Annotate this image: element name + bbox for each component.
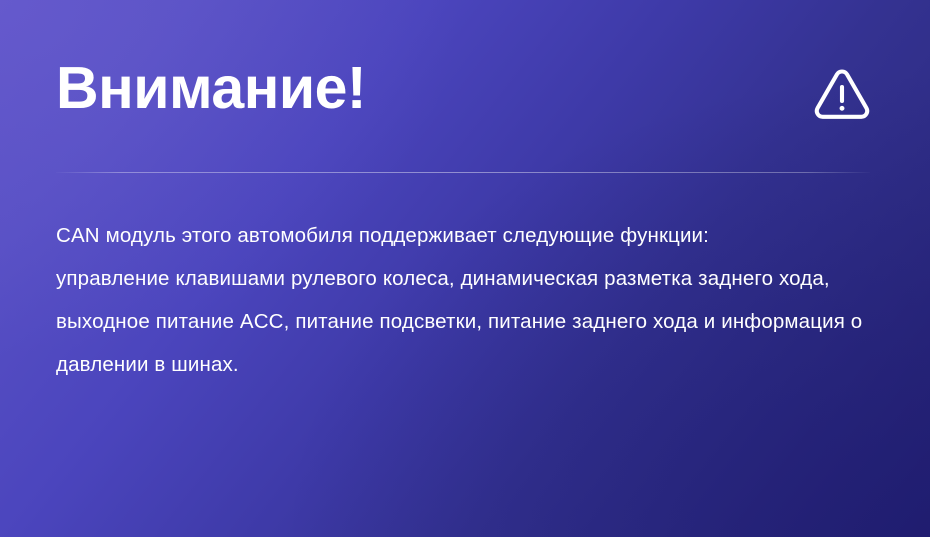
body-text: CAN модуль этого автомобиля поддерживает… xyxy=(56,214,882,386)
page-title: Внимание! xyxy=(56,52,366,124)
warning-banner: Внимание! CAN модуль этого автомобиля по… xyxy=(0,0,930,537)
warning-triangle-icon xyxy=(812,64,872,124)
body-paragraph-features: управление клавишами рулевого колеса, ди… xyxy=(56,257,882,386)
divider xyxy=(56,172,870,173)
body-paragraph-intro: CAN модуль этого автомобиля поддерживает… xyxy=(56,214,878,257)
